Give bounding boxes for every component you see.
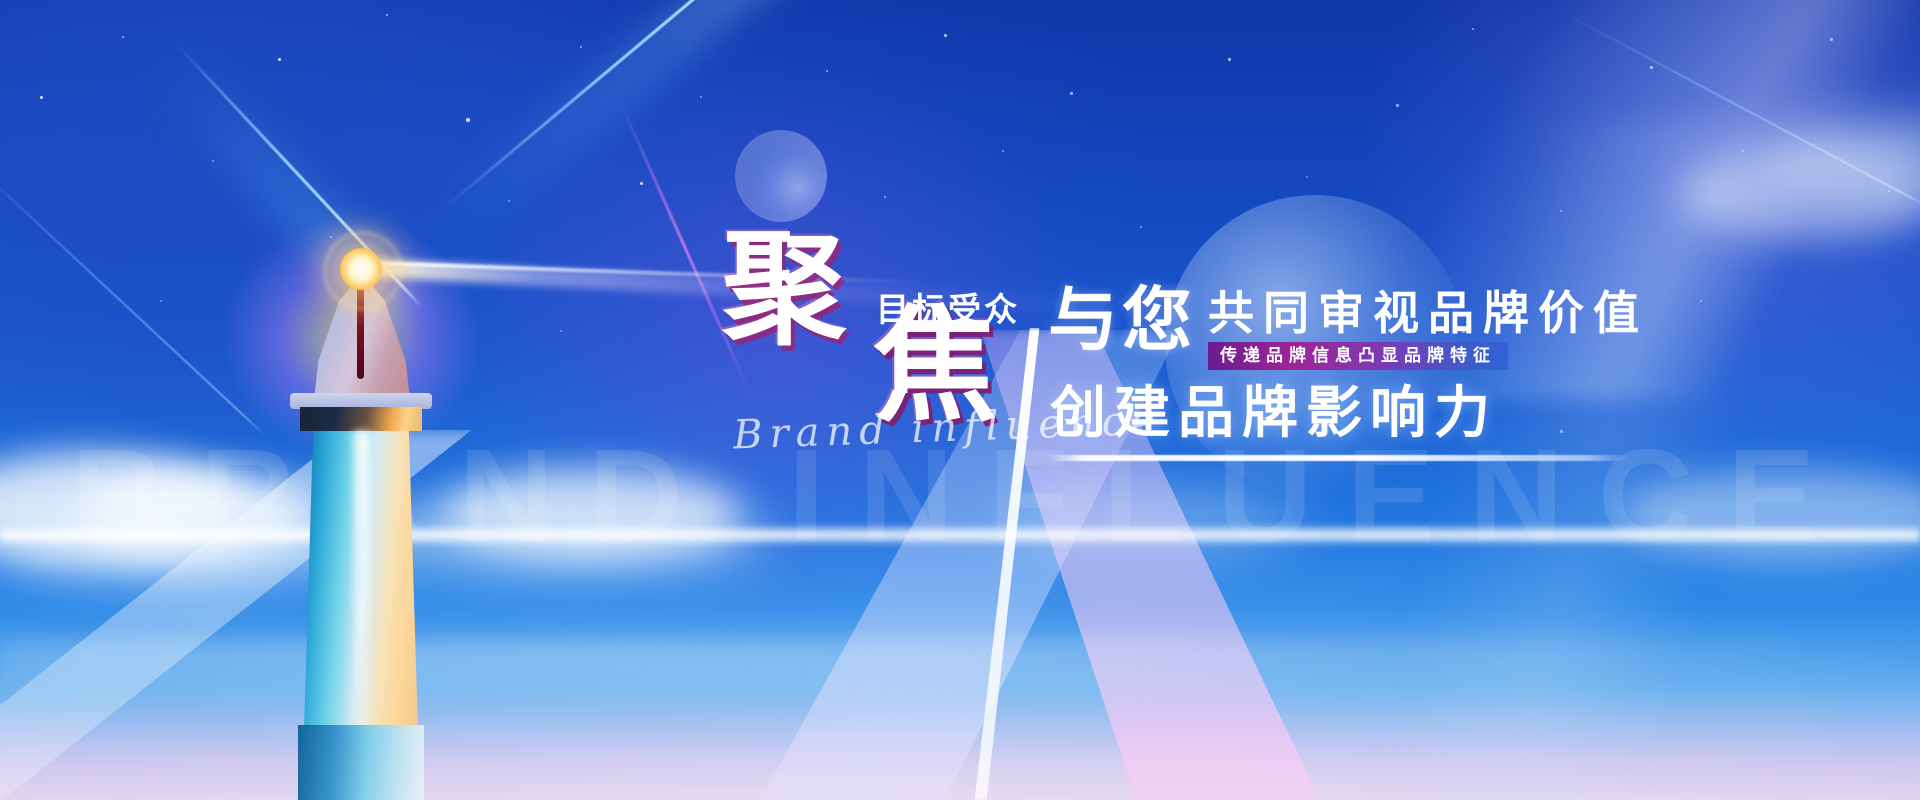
- ribbon-subtitle: 传递品牌信息凸显品牌特征: [1208, 342, 1508, 370]
- audience-tag: 目标受众: [876, 283, 1020, 331]
- lighthouse-base: [298, 725, 424, 800]
- lighthouse-lamp: [340, 248, 382, 290]
- crescent-moon-icon: [735, 130, 827, 222]
- brand-banner: BRAND INFLUENCE 聚 焦 目标受众 Brand influence…: [0, 0, 1920, 800]
- headline-line-1: 共同审视品牌价值: [1208, 290, 1648, 336]
- headline-line-2: 创建品牌影响力: [1050, 385, 1498, 441]
- lighthouse-lantern-band: [300, 407, 422, 431]
- headline-focus-char-1: 聚: [722, 228, 848, 352]
- with-you-text: 与您: [1048, 285, 1196, 355]
- headline-divider-rule: [1048, 455, 1630, 461]
- pen-nib-lighthouse: [258, 225, 488, 800]
